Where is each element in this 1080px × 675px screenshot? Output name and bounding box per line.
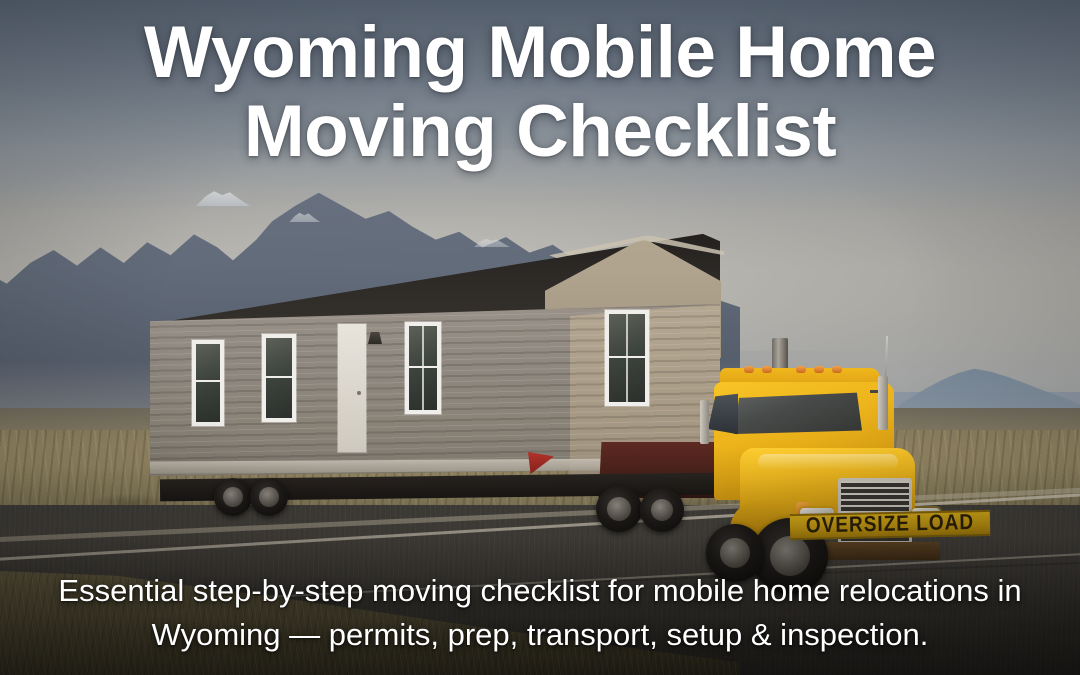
window <box>262 334 296 422</box>
window-glass <box>196 344 220 422</box>
door-knob <box>357 391 361 395</box>
cab-side-window <box>708 392 738 436</box>
cab-marker-light <box>832 366 842 373</box>
wheel-hub <box>770 536 810 576</box>
cab-marker-light <box>796 366 806 373</box>
cab-marker-light <box>814 366 824 373</box>
trailer-wheel <box>596 486 642 532</box>
window-mullion-vertical <box>626 314 628 402</box>
oversize-load-banner: OVERSIZE LOAD <box>790 510 991 540</box>
trailer-wheel <box>214 478 252 516</box>
window <box>192 340 224 426</box>
window <box>405 322 441 414</box>
hood-highlight <box>758 454 898 470</box>
hero-background-image: OVERSIZE LOAD <box>0 0 1080 675</box>
cab-marker-light <box>762 366 772 373</box>
window-glass <box>266 338 292 418</box>
mobile-home-door <box>338 324 366 452</box>
cab-marker-light <box>744 366 754 373</box>
oversize-load-banner-text: OVERSIZE LOAD <box>806 511 975 540</box>
trailer-wheel <box>250 478 288 516</box>
trailer-wheel <box>640 488 684 532</box>
window-mullion <box>196 380 220 382</box>
wheel-hub <box>259 487 279 507</box>
hero-banner: OVERSIZE LOAD Wyoming Mobile Home Moving… <box>0 0 1080 675</box>
wheel-hub <box>720 538 750 568</box>
wheel-hub <box>223 487 243 507</box>
wheel-hub <box>607 497 631 521</box>
truck-rear-wheel <box>706 524 764 582</box>
side-mirror <box>878 376 888 430</box>
side-mirror <box>700 400 709 444</box>
wheel-hub <box>651 499 674 522</box>
window <box>605 310 649 406</box>
window-mullion-vertical <box>422 326 424 410</box>
window-mullion <box>266 376 292 378</box>
